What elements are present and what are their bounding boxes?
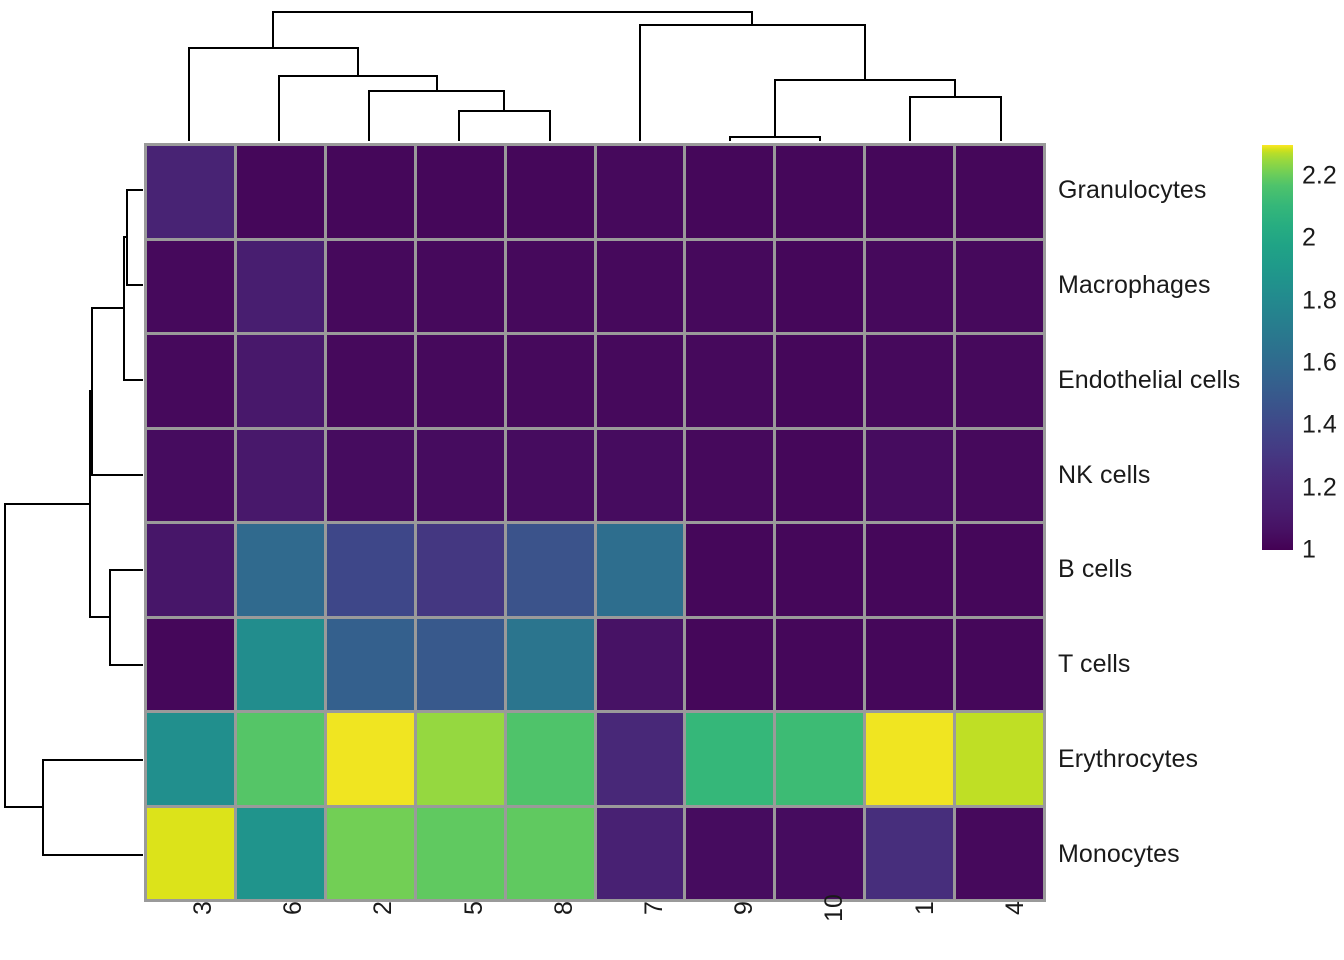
heatmap-cell [956, 430, 1043, 522]
heatmap-cell [417, 146, 504, 238]
column-label: 1 [911, 901, 940, 915]
heatmap-cell [507, 524, 594, 616]
column-label: 4 [1001, 901, 1030, 915]
column-label-slot: 6 [234, 906, 324, 960]
heatmap-cell [417, 808, 504, 900]
colorbar-tick-label: 1.4 [1302, 411, 1337, 440]
heatmap-cell [507, 146, 594, 238]
heatmap-cell [597, 430, 684, 522]
heatmap-cell [866, 524, 953, 616]
heatmap-cell [237, 335, 324, 427]
heatmap-cell [597, 524, 684, 616]
heatmap-cell [417, 619, 504, 711]
heatmap-cell [507, 713, 594, 805]
heatmap-cell [686, 619, 773, 711]
heatmap-cell [597, 713, 684, 805]
heatmap-cell [686, 146, 773, 238]
heatmap-cell [866, 335, 953, 427]
heatmap-cell [237, 808, 324, 900]
heatmap-cell [417, 335, 504, 427]
heatmap-cell [776, 430, 863, 522]
row-label: Macrophages [1058, 238, 1288, 333]
heatmap-cell [686, 241, 773, 333]
heatmap-cell [866, 713, 953, 805]
colorbar-tick-label: 1.6 [1302, 349, 1337, 378]
heatmap-cell [417, 524, 504, 616]
column-label-slot: 8 [505, 906, 595, 960]
heatmap-cell [327, 430, 414, 522]
heatmap-cell [776, 524, 863, 616]
heatmap-cell [147, 713, 234, 805]
heatmap-cell [956, 524, 1043, 616]
heatmap-cell [417, 713, 504, 805]
colorbar-tick-label: 1.2 [1302, 473, 1337, 502]
heatmap-cell [507, 241, 594, 333]
clustermap-figure: GranulocytesMacrophagesEndothelial cells… [0, 0, 1344, 960]
row-label: NK cells [1058, 428, 1288, 523]
column-label: 7 [640, 901, 669, 915]
heatmap-cell [597, 619, 684, 711]
heatmap-cell [686, 335, 773, 427]
column-label: 3 [189, 901, 218, 915]
heatmap-cell [507, 808, 594, 900]
heatmap-cell [776, 808, 863, 900]
row-label: Monocytes [1058, 807, 1288, 902]
heatmap-cell [956, 335, 1043, 427]
colorbar: 2.221.81.61.41.21 [1262, 145, 1344, 565]
column-label-slot: 1 [866, 906, 956, 960]
column-label: 6 [279, 901, 308, 915]
column-label: 5 [460, 901, 489, 915]
row-label-list: GranulocytesMacrophagesEndothelial cells… [1058, 143, 1288, 902]
heatmap-cell [776, 713, 863, 805]
heatmap-cell [327, 335, 414, 427]
heatmap-cell [776, 619, 863, 711]
colorbar-tick-label: 2.2 [1302, 162, 1337, 191]
column-label: 2 [369, 901, 398, 915]
heatmap-cell [507, 619, 594, 711]
heatmap-cell [956, 808, 1043, 900]
column-label-slot: 5 [415, 906, 505, 960]
heatmap-cell [776, 146, 863, 238]
heatmap-cell [956, 713, 1043, 805]
column-label-slot: 2 [324, 906, 414, 960]
heatmap-cell [597, 808, 684, 900]
column-label-slot: 10 [775, 906, 865, 960]
column-label-slot: 9 [685, 906, 775, 960]
colorbar-tick-label: 1 [1302, 536, 1316, 565]
heatmap-cell [327, 808, 414, 900]
heatmap-cell [866, 619, 953, 711]
heatmap-cell [866, 808, 953, 900]
row-label: B cells [1058, 523, 1288, 618]
column-label-slot: 7 [595, 906, 685, 960]
heatmap-cell [417, 430, 504, 522]
heatmap-cell [776, 335, 863, 427]
heatmap-cell [237, 241, 324, 333]
heatmap-cell [956, 619, 1043, 711]
colorbar-tick-label: 2 [1302, 224, 1316, 253]
heatmap-cell [327, 524, 414, 616]
heatmap-cell [237, 430, 324, 522]
heatmap-cell [686, 524, 773, 616]
column-label-list: 36258791014 [144, 906, 1046, 960]
heatmap-cell [147, 619, 234, 711]
heatmap-cell [866, 241, 953, 333]
heatmap-cell [147, 335, 234, 427]
colorbar-tick-label: 1.8 [1302, 286, 1337, 315]
heatmap-cell [417, 241, 504, 333]
heatmap-cell [327, 619, 414, 711]
row-dendrogram [0, 143, 144, 902]
row-label: Erythrocytes [1058, 712, 1288, 807]
column-label: 10 [820, 894, 849, 922]
heatmap-cell [507, 335, 594, 427]
column-label-slot: 4 [956, 906, 1046, 960]
heatmap-cell [686, 808, 773, 900]
heatmap-cell [597, 335, 684, 427]
heatmap-cell [147, 146, 234, 238]
heatmap-cell [147, 241, 234, 333]
heatmap-cell [597, 241, 684, 333]
heatmap-cell [327, 713, 414, 805]
heatmap-cell [597, 146, 684, 238]
heatmap-cell [776, 241, 863, 333]
heatmap-cell [686, 430, 773, 522]
heatmap-cell [956, 241, 1043, 333]
heatmap-cell [956, 146, 1043, 238]
heatmap-cell [327, 241, 414, 333]
heatmap-cell [237, 146, 324, 238]
heatmap-cell [866, 146, 953, 238]
heatmap-cell [147, 524, 234, 616]
row-label: Granulocytes [1058, 143, 1288, 238]
heatmap-cell [686, 713, 773, 805]
row-label: T cells [1058, 617, 1288, 712]
heatmap-cell [147, 808, 234, 900]
colorbar-gradient [1262, 145, 1293, 550]
heatmap-cell [327, 146, 414, 238]
column-dendrogram [144, 0, 1046, 143]
heatmap-cell [237, 524, 324, 616]
heatmap-cell [237, 713, 324, 805]
heatmap-cell [866, 430, 953, 522]
heatmap-cell [507, 430, 594, 522]
column-label-slot: 3 [144, 906, 234, 960]
row-label: Endothelial cells [1058, 333, 1288, 428]
heatmap-grid [144, 143, 1046, 902]
heatmap-cell [237, 619, 324, 711]
column-label: 9 [730, 901, 759, 915]
heatmap-cell [147, 430, 234, 522]
column-label: 8 [550, 901, 579, 915]
